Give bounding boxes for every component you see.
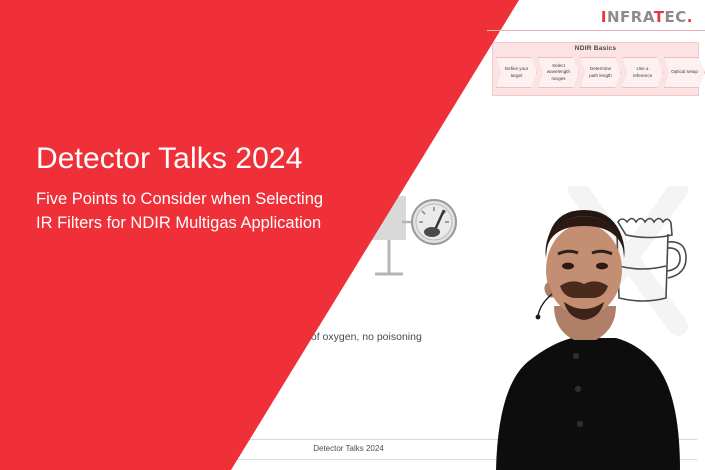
presenter-video-overlay	[490, 186, 705, 470]
ndir-basics-title: NDIR Basics	[493, 45, 698, 52]
ndir-step-0: Define your target	[496, 57, 537, 88]
ndir-step-2: Determine path length	[580, 57, 621, 88]
ndir-step-3: Use a reference	[622, 57, 663, 88]
ndir-step-4: Optical setup	[664, 57, 705, 88]
logo-letters-nfra: NFRA	[607, 8, 654, 26]
ndir-basics-panel: NDIR Basics Define your target Select wa…	[492, 42, 699, 96]
logo-underline-rule	[487, 30, 697, 31]
ndir-process-chevrons: Define your target Select wavelength ran…	[496, 57, 705, 88]
ndir-step-1: Select wavelength ranges	[538, 57, 579, 88]
banner-subtitle: Five Points to Consider when Selecting I…	[36, 188, 323, 236]
logo-letter-t: T	[654, 8, 665, 26]
logo-period: .	[687, 8, 693, 26]
logo-letters-ec: EC	[665, 8, 687, 26]
presenter-cutout-image	[490, 186, 705, 470]
presenter-figure	[496, 210, 680, 470]
presentation-slide-frame: NDIR - Non-Dispersive Infrared Measureme…	[0, 0, 705, 470]
banner-title: Detector Talks 2024	[36, 142, 303, 176]
infratec-logo: INFRATEC.	[601, 8, 693, 26]
